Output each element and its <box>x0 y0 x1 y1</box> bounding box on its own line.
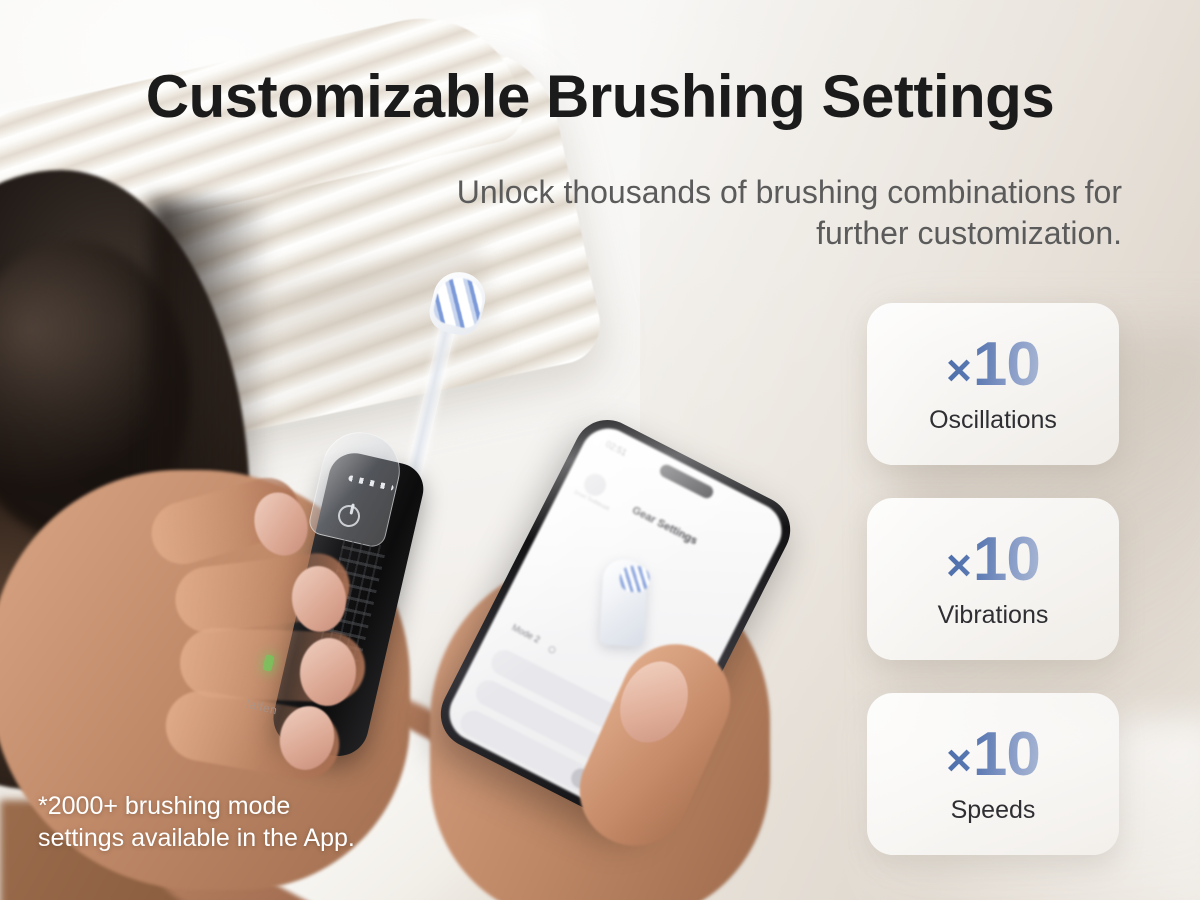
feature-number: 10 <box>973 724 1040 786</box>
feature-value: × 10 <box>946 334 1040 396</box>
footnote-line-1: *2000+ brushing mode <box>38 790 468 822</box>
app-mode-label: Mode 2 <box>510 622 541 645</box>
feature-value: × 10 <box>946 529 1040 591</box>
subtitle-line-1: Unlock thousands of brushing combination… <box>222 172 1122 213</box>
feature-number: 10 <box>973 334 1040 396</box>
feature-card-oscillations: × 10 Oscillations <box>867 303 1119 465</box>
subtitle: Unlock thousands of brushing combination… <box>222 172 1122 254</box>
footnote-line-2: settings available in the App. <box>38 822 468 854</box>
feature-label: Oscillations <box>929 406 1057 435</box>
feature-card-speeds: × 10 Speeds <box>867 693 1119 855</box>
multiply-icon: × <box>946 349 971 393</box>
multiply-icon: × <box>946 739 971 783</box>
phone-status-time: 02:51 <box>604 439 629 458</box>
feature-label: Vibrations <box>938 601 1049 630</box>
multiply-icon: × <box>946 544 971 588</box>
feature-number: 10 <box>973 529 1040 591</box>
feature-card-list: × 10 Oscillations × 10 Vibrations × 10 S… <box>867 303 1119 888</box>
app-toothbrush-bristles-icon <box>619 565 650 593</box>
subtitle-line-2: further customization. <box>222 213 1122 254</box>
page-title: Customizable Brushing Settings <box>0 62 1200 131</box>
feature-value: × 10 <box>946 724 1040 786</box>
feature-card-vibrations: × 10 Vibrations <box>867 498 1119 660</box>
app-mode-indicator-icon <box>547 645 556 654</box>
footnote: *2000+ brushing mode settings available … <box>38 790 468 854</box>
feature-label: Speeds <box>951 796 1036 825</box>
marketing-banner: laifen 02:51 Smart Toothbrush Gear Setti… <box>0 0 1200 900</box>
